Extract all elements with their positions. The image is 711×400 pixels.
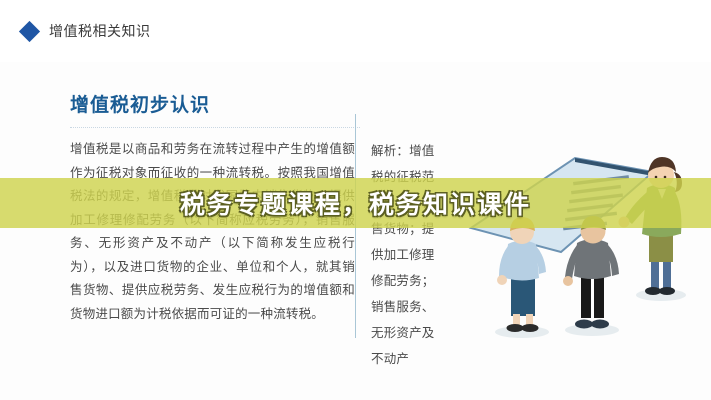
three-people-presentation-illustration xyxy=(453,132,708,347)
header-title: 增值税相关知识 xyxy=(49,21,151,41)
slide-card: 增值税初步认识 增值税是以商品和劳务在流转过程中产生的增值额作为征税对象而征收的… xyxy=(0,62,711,400)
slide-title: 增值税初步认识 xyxy=(70,90,210,117)
slide-content: 增值税初步认识 增值税是以商品和劳务在流转过程中产生的增值额作为征税对象而征收的… xyxy=(58,72,711,400)
body-paragraph: 增值税是以商品和劳务在流转过程中产生的增值额作为征税对象而征收的一种流转税。按照… xyxy=(70,138,355,326)
page-header: 增值税相关知识 xyxy=(0,0,711,62)
blue-diamond-icon xyxy=(19,20,40,41)
analysis-paragraph: 解析：增值税的征税范围分为：销售货物；提供加工修理修配劳务；销售服务、无形资产及… xyxy=(371,138,447,372)
body-text-column: 增值税是以商品和劳务在流转过程中产生的增值额作为征税对象而征收的一种流转税。按照… xyxy=(70,138,355,326)
analysis-text-column: 解析：增值税的征税范围分为：销售货物；提供加工修理修配劳务；销售服务、无形资产及… xyxy=(371,138,447,372)
watermark-banner: 税务专题课程，税务知识课件 xyxy=(0,178,711,228)
watermark-text: 税务专题课程，税务知识课件 xyxy=(180,185,531,221)
title-divider xyxy=(70,127,360,129)
